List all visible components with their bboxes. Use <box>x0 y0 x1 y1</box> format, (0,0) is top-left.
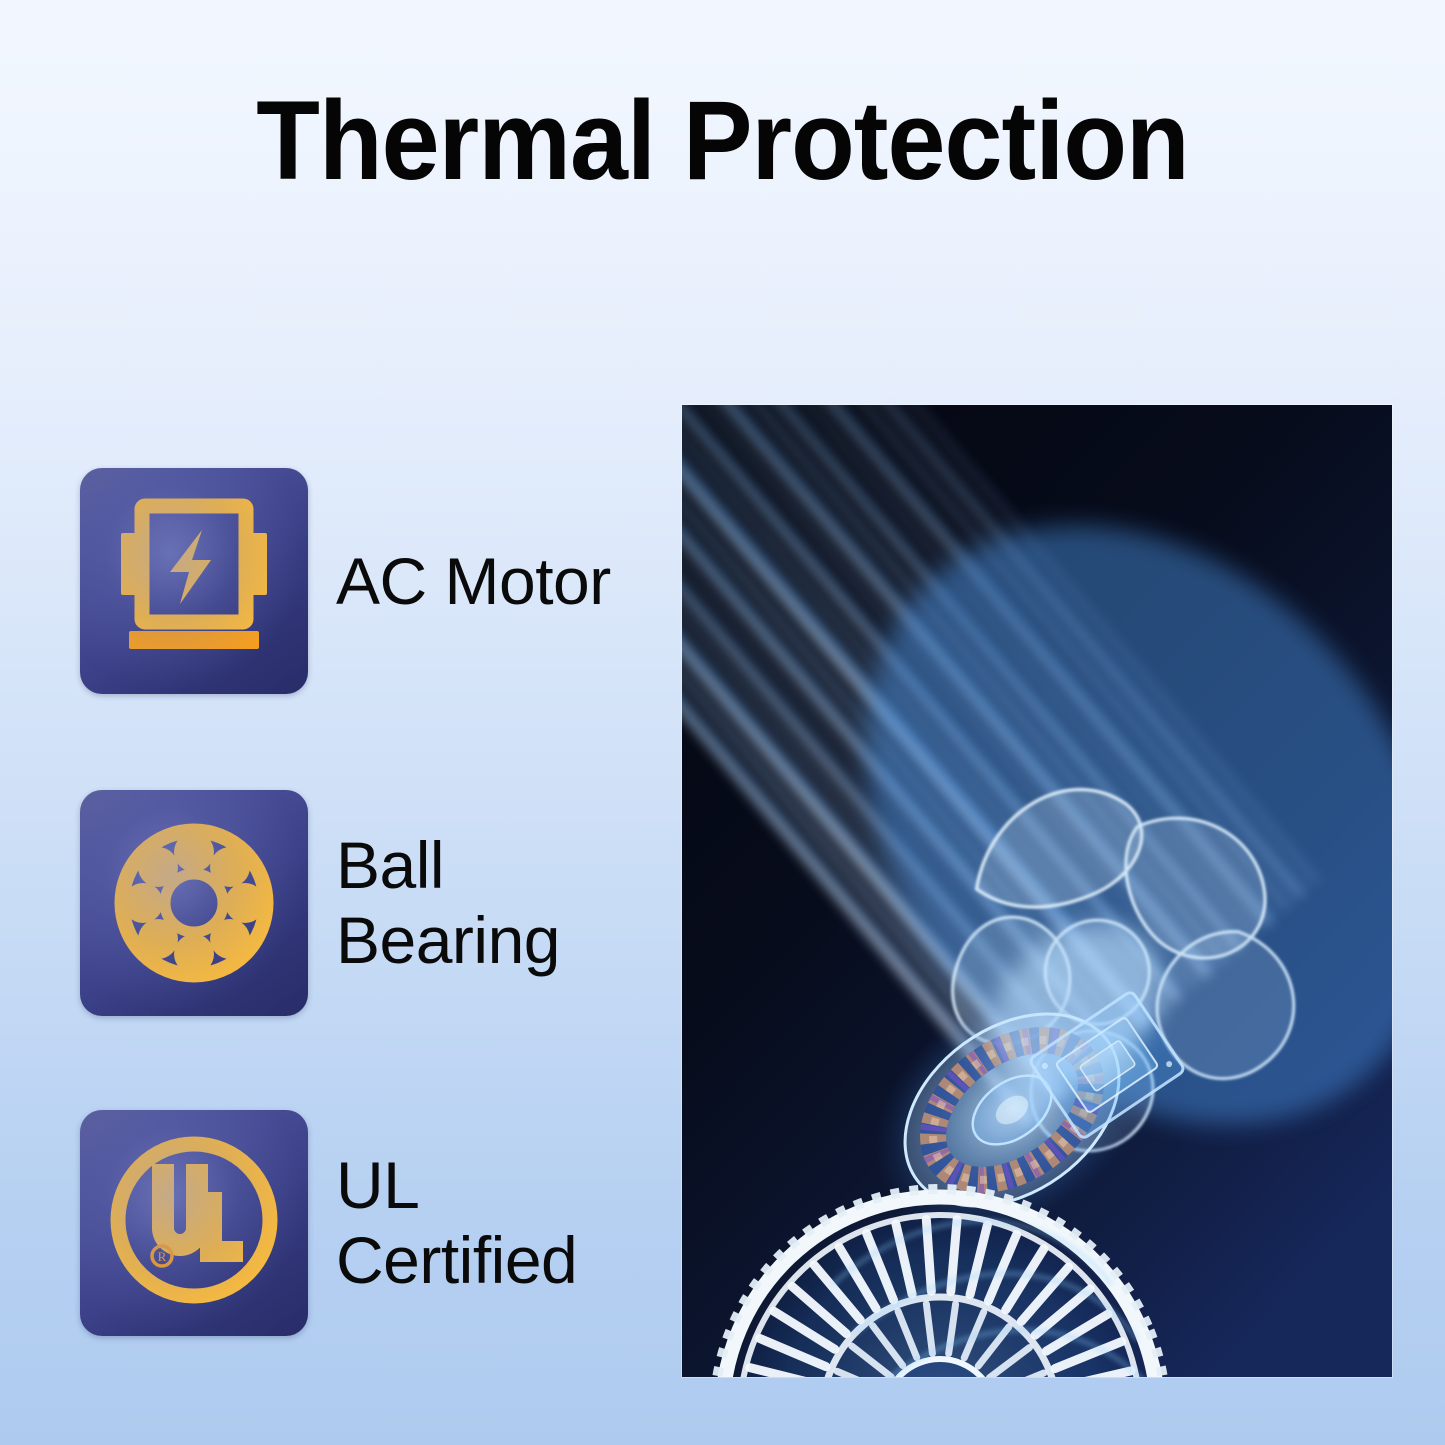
feature-label-ball-bearing: Ball Bearing <box>336 828 560 977</box>
thermal-protection-feature-card: Thermal Protection AC Motor <box>0 0 1445 1445</box>
fan-motor-airflow-image <box>682 405 1392 1377</box>
ball-bearing-icon <box>80 790 308 1016</box>
feature-item-ac-motor: AC Motor <box>80 468 660 694</box>
feature-label-ac-motor: AC Motor <box>336 544 611 619</box>
svg-text:R: R <box>158 1249 167 1264</box>
page-title: Thermal Protection <box>51 82 1395 200</box>
ac-motor-icon <box>80 468 308 694</box>
ul-certified-icon: R <box>80 1110 308 1336</box>
ac-motor-icon-tile <box>80 468 308 694</box>
feature-label-ul-certified: UL Certified <box>336 1148 577 1297</box>
ul-certified-icon-tile: R <box>80 1110 308 1336</box>
ball-bearing-icon-tile <box>80 790 308 1016</box>
product-image-panel <box>682 405 1392 1377</box>
feature-item-ball-bearing: Ball Bearing <box>80 790 660 1016</box>
feature-item-ul-certified: R UL Certified <box>80 1110 660 1336</box>
